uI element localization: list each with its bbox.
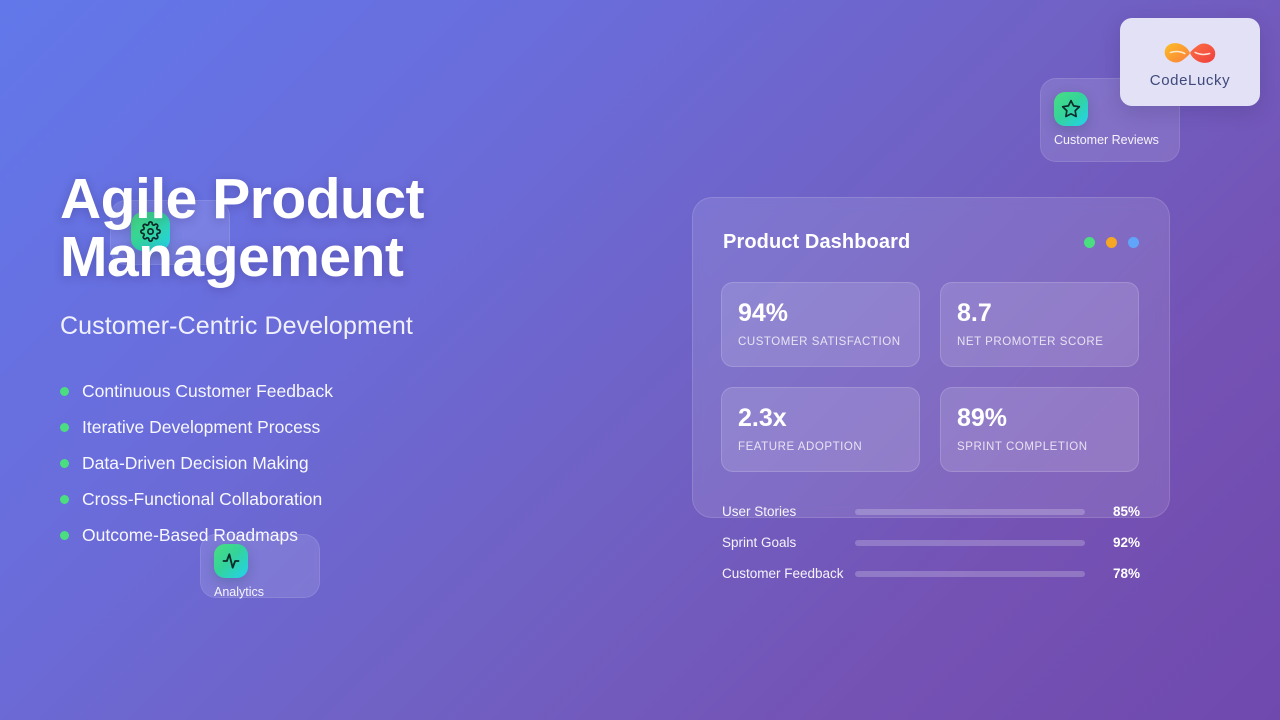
progress-row: Sprint Goals 92% [722,527,1140,558]
bullet-dot-icon [60,459,69,468]
star-icon [1054,92,1088,126]
metric-label: Feature Adoption [738,441,903,453]
metric-value: 89% [957,406,1122,431]
list-item-label: Outcome-Based Roadmaps [82,525,298,546]
window-dots [1084,237,1139,248]
metric-value: 2.3x [738,406,903,431]
brand-badge[interactable]: CodeLucky [1120,18,1260,106]
bullet-dot-icon [60,423,69,432]
amber-dot[interactable] [1106,237,1117,248]
list-item-label: Data-Driven Decision Making [82,453,309,474]
progress-list: User Stories 85% Sprint Goals 92% Custom… [722,496,1140,589]
list-item: Outcome-Based Roadmaps [60,517,620,553]
green-dot[interactable] [1084,237,1095,248]
dashboard-title: Product Dashboard [723,231,910,254]
progress-percent: 92% [1113,535,1140,550]
bullet-dot-icon [60,495,69,504]
metric-label: Sprint Completion [957,441,1122,453]
metric-card[interactable]: 89% Sprint Completion [940,387,1139,472]
metric-card[interactable]: 94% Customer Satisfaction [721,282,920,367]
page-subtitle: Customer-Centric Development [60,312,620,341]
progress-percent: 78% [1113,566,1140,581]
metric-label: Customer Satisfaction [738,336,903,348]
page-title: Agile Product Management [60,170,620,286]
metric-cards: 94% Customer Satisfaction 8.7 Net Promot… [721,282,1139,472]
dashboard-header: Product Dashboard [723,231,1139,254]
list-item-label: Iterative Development Process [82,417,320,438]
list-item-label: Continuous Customer Feedback [82,381,333,402]
metric-card[interactable]: 8.7 Net Promoter Score [940,282,1139,367]
progress-track [855,540,1085,546]
title-line-1: Agile Product [60,167,424,231]
hero-content: Agile Product Management Customer-Centri… [60,170,620,553]
progress-label: Customer Feedback [722,566,855,581]
feature-list: Continuous Customer Feedback Iterative D… [60,373,620,553]
bullet-dot-icon [60,531,69,540]
progress-percent: 85% [1113,504,1140,519]
progress-label: User Stories [722,504,855,519]
bullet-dot-icon [60,387,69,396]
list-item: Iterative Development Process [60,409,620,445]
blue-dot[interactable] [1128,237,1139,248]
list-item: Data-Driven Decision Making [60,445,620,481]
title-line-2: Management [60,225,403,289]
infinity-leaf-logo [1159,36,1221,70]
metric-label: Net Promoter Score [957,336,1122,348]
brand-name: CodeLucky [1150,72,1230,89]
progress-row: Customer Feedback 78% [722,558,1140,589]
progress-track [855,571,1085,577]
floating-card-label: Analytics [214,585,264,599]
progress-label: Sprint Goals [722,535,855,550]
list-item: Continuous Customer Feedback [60,373,620,409]
progress-row: User Stories 85% [722,496,1140,527]
progress-track [855,509,1085,515]
list-item-label: Cross-Functional Collaboration [82,489,322,510]
list-item: Cross-Functional Collaboration [60,481,620,517]
floating-card-label: Customer Reviews [1054,133,1159,147]
metric-value: 94% [738,301,903,326]
metric-value: 8.7 [957,301,1122,326]
metric-card[interactable]: 2.3x Feature Adoption [721,387,920,472]
